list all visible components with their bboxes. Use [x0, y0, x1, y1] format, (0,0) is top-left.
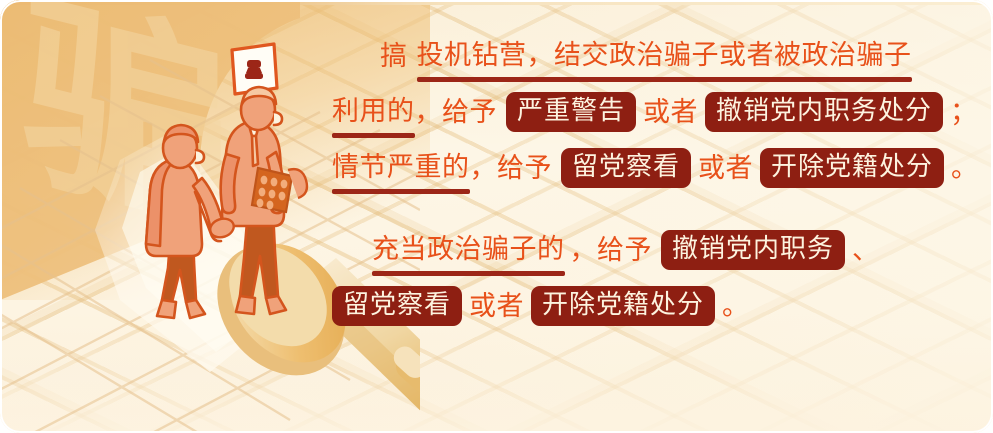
p1-l3-conjunction: 或者 — [698, 155, 753, 182]
p1-l3-tag-1: 留党察看 — [561, 148, 691, 188]
paragraph-2: 充当政治骗子的 ，给予 撤销党内职务 、 留党察看 或者 开除党籍处分 。 — [332, 222, 978, 334]
p1-l2-after: ，给予 — [415, 99, 498, 126]
poster-container: 骗 — [0, 0, 993, 433]
p1-l3-after: ，给予 — [470, 155, 553, 182]
p1-l2-tag-1: 严重警告 — [506, 92, 636, 132]
p1-l1-underlined: 投机钻营，结交政治骗子或者被政治骗子 — [417, 42, 912, 71]
p2-l1-after: ，给予 — [570, 237, 653, 264]
p1-l2-end-punct: ； — [950, 99, 977, 126]
p1-line-3: 情节严重的 ，给予 留党察看 或者 开除党籍处分 。 — [332, 140, 978, 196]
p1-l3-tag-2: 开除党籍处分 — [760, 148, 944, 188]
p1-l2-conjunction: 或者 — [643, 99, 698, 126]
p2-l2-tag-2: 开除党籍处分 — [531, 286, 715, 326]
text-content: 搞 投机钻营，结交政治骗子或者被政治骗子 利用的 ，给予 严重警告 或者 撤销党… — [332, 28, 978, 334]
p2-line-1: 充当政治骗子的 ，给予 撤销党内职务 、 — [332, 222, 978, 278]
p2-l2-conjunction: 或者 — [469, 293, 524, 320]
p2-line-2: 留党察看 或者 开除党籍处分 。 — [332, 278, 978, 334]
p2-l1-underlined: 充当政治骗子的 — [372, 236, 565, 265]
p1-l2-underlined: 利用的 — [332, 98, 415, 127]
paragraph-1: 搞 投机钻营，结交政治骗子或者被政治骗子 利用的 ，给予 严重警告 或者 撤销党… — [332, 28, 978, 196]
p1-l2-tag-2: 撤销党内职务处分 — [705, 92, 943, 132]
p2-l1-end-punct: 、 — [852, 237, 879, 264]
p1-line-2: 利用的 ，给予 严重警告 或者 撤销党内职务处分 ； — [332, 84, 978, 140]
p2-l1-tag-1: 撤销党内职务 — [661, 230, 845, 270]
p1-l1-prefix: 搞 — [380, 43, 408, 70]
official-seal-stamp-icon — [245, 60, 263, 79]
p2-l2-end-punct: 。 — [722, 293, 749, 320]
p2-l2-tag-1: 留党察看 — [332, 286, 462, 326]
p1-line-1: 搞 投机钻营，结交政治骗子或者被政治骗子 — [332, 28, 978, 84]
p1-l3-end-punct: 。 — [951, 155, 978, 182]
p1-l3-underlined: 情节严重的 — [332, 154, 470, 183]
